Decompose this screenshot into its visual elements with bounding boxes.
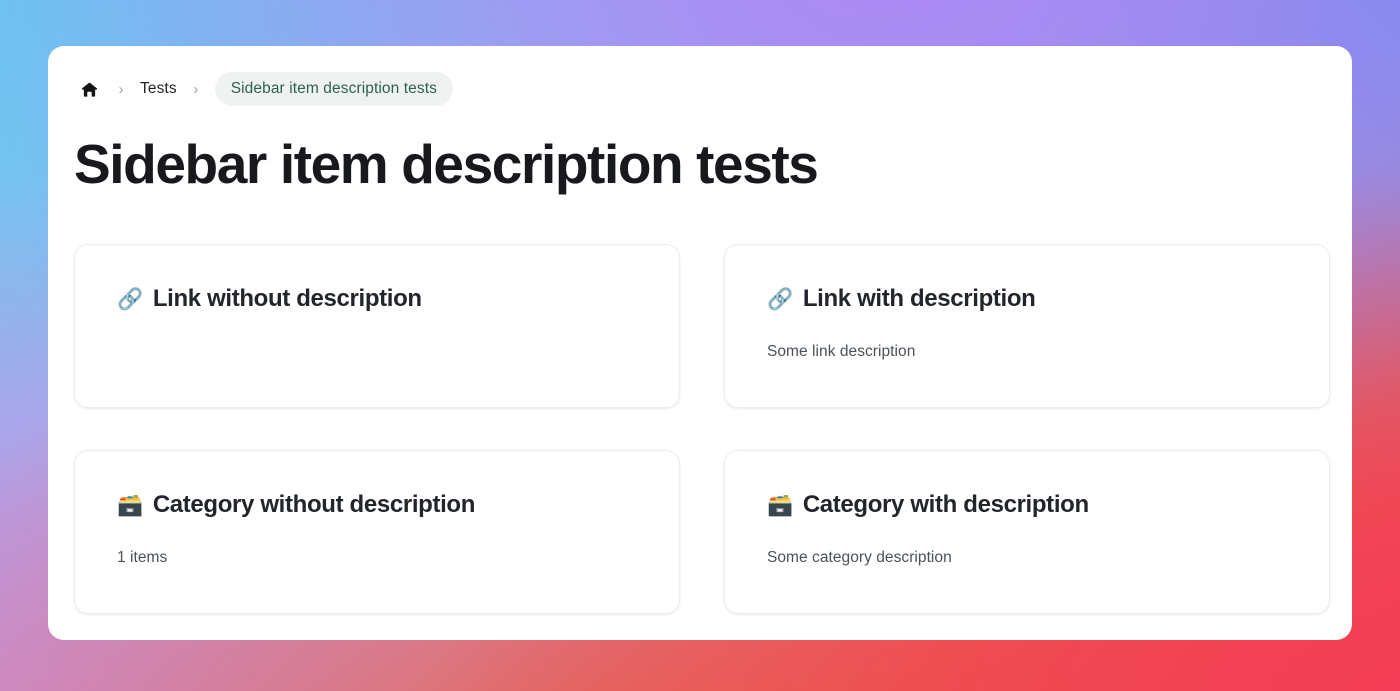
card-title: Link without description xyxy=(153,285,422,314)
page-title: Sidebar item description tests xyxy=(74,134,818,196)
card-item-count: 1 items xyxy=(117,547,637,569)
card-category-with-description[interactable]: 🗃️ Category with description Some catego… xyxy=(724,450,1330,614)
breadcrumb-separator-2: › xyxy=(177,82,215,97)
card-link-without-description[interactable]: 🔗 Link without description xyxy=(74,244,680,408)
breadcrumb: › Tests › Sidebar item description tests xyxy=(76,72,453,106)
breadcrumb-separator-1: › xyxy=(102,82,140,97)
card-file-box-icon: 🗃️ xyxy=(767,495,793,516)
card-title-row: 🔗 Link with description xyxy=(767,285,1287,314)
card-link-with-description[interactable]: 🔗 Link with description Some link descri… xyxy=(724,244,1330,408)
card-description: Some category description xyxy=(767,547,1287,569)
card-title: Category without description xyxy=(153,491,475,520)
home-icon[interactable] xyxy=(76,76,102,102)
content-panel: › Tests › Sidebar item description tests… xyxy=(48,46,1352,640)
breadcrumb-item-current: Sidebar item description tests xyxy=(215,72,453,106)
card-file-box-icon: 🗃️ xyxy=(117,495,143,516)
card-title-row: 🔗 Link without description xyxy=(117,285,637,314)
card-title-row: 🗃️ Category without description xyxy=(117,491,637,520)
card-category-without-description[interactable]: 🗃️ Category without description 1 items xyxy=(74,450,680,614)
card-title: Link with description xyxy=(803,285,1036,314)
card-title: Category with description xyxy=(803,491,1089,520)
card-description: Some link description xyxy=(767,341,1287,363)
card-grid: 🔗 Link without description 🔗 Link with d… xyxy=(74,244,1330,614)
link-icon: 🔗 xyxy=(117,289,143,310)
link-icon: 🔗 xyxy=(767,289,793,310)
card-title-row: 🗃️ Category with description xyxy=(767,491,1287,520)
breadcrumb-item-tests[interactable]: Tests xyxy=(140,80,177,98)
